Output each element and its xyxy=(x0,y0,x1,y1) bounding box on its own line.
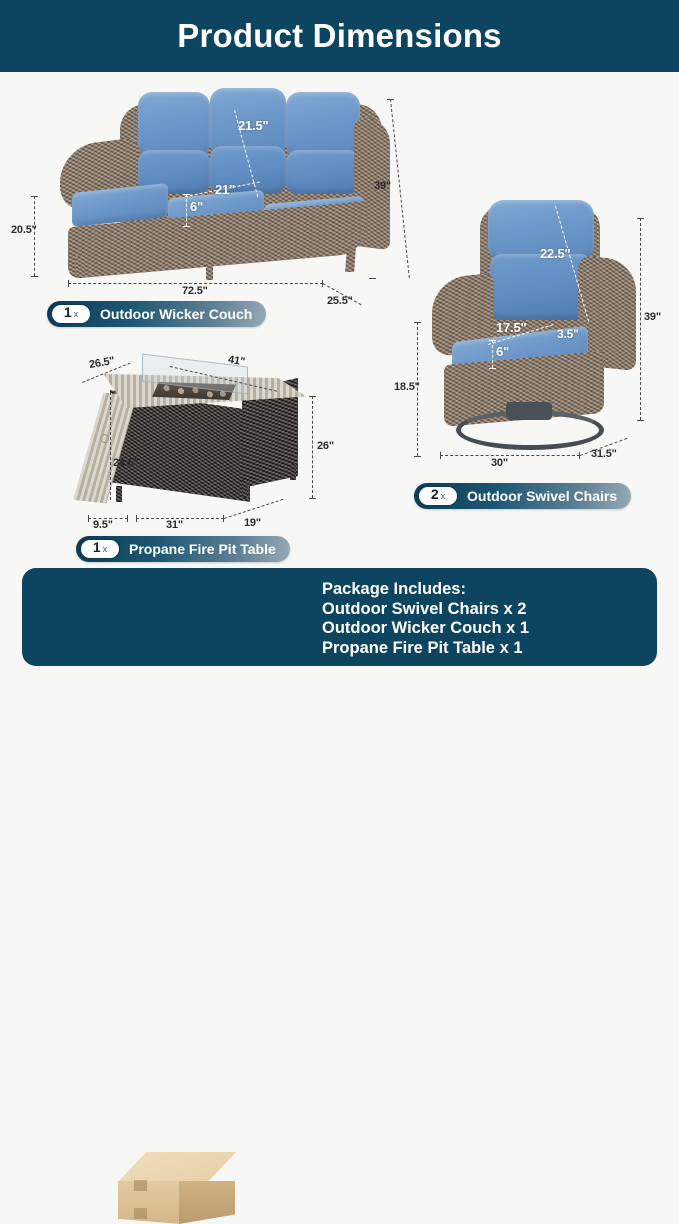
box-tape-upper xyxy=(134,1180,147,1191)
package-text-block: Package Includes: Outdoor Swivel Chairs … xyxy=(322,580,529,658)
table-door-handle-icon xyxy=(100,434,109,443)
tick xyxy=(637,218,644,219)
chair-multiplier: x xyxy=(441,492,446,501)
fire-pit-table-illustration xyxy=(66,358,326,518)
product-dimensions-infographic: Product Dimensions xyxy=(0,0,679,679)
label-pill-swivel-chairs[interactable]: 2 x Outdoor Swivel Chairs xyxy=(414,483,631,509)
tick xyxy=(127,515,128,522)
table-dim-door-width: 9.5" xyxy=(93,519,113,531)
couch-seat-height-line xyxy=(34,196,35,276)
couch-multiplier: x xyxy=(74,310,79,319)
tick xyxy=(414,322,421,323)
tick xyxy=(369,278,376,279)
chair-dim-cushion-thickness: 6" xyxy=(496,344,509,359)
couch-dim-seat-depth: 21" xyxy=(215,182,235,197)
couch-count: 1 xyxy=(64,305,72,319)
table-count: 1 xyxy=(93,540,101,554)
chair-dim-armrest: 3.5" xyxy=(557,327,579,341)
couch-dim-depth: 25.5" xyxy=(327,295,353,307)
couch-label: Outdoor Wicker Couch xyxy=(100,306,252,322)
tick xyxy=(31,276,38,277)
couch-dim-height: 39" xyxy=(374,180,391,192)
chair-dim-seat-depth: 17.5" xyxy=(496,320,526,335)
tick xyxy=(387,99,394,100)
table-multiplier: x xyxy=(103,545,108,554)
tick xyxy=(183,194,190,195)
tick xyxy=(489,368,496,369)
table-dim-base-depth: 19" xyxy=(244,517,261,529)
header-banner: Product Dimensions xyxy=(0,0,679,72)
tick xyxy=(88,515,89,522)
chair-dim-height: 39" xyxy=(644,311,661,323)
box-left-face xyxy=(118,1181,180,1224)
couch-dim-width: 72.5" xyxy=(182,285,208,297)
chair-dim-depth: 31.5" xyxy=(591,448,617,460)
chair-width-line xyxy=(440,455,580,456)
table-dim-height: 26" xyxy=(317,440,334,452)
chair-cushion-thickness-line xyxy=(492,340,493,368)
couch-width-line xyxy=(68,283,323,284)
tick xyxy=(309,396,316,397)
tick xyxy=(183,226,190,227)
couch-dim-cushion-thickness: 6" xyxy=(190,199,203,214)
table-count-badge: 1 x xyxy=(80,539,120,559)
couch-cushion-thickness-line xyxy=(186,194,187,226)
chair-label: Outdoor Swivel Chairs xyxy=(467,488,617,504)
table-height-line xyxy=(312,396,313,498)
table-dim-base-width: 31" xyxy=(166,519,183,531)
cardboard-box-icon xyxy=(110,1152,260,1224)
page-title: Product Dimensions xyxy=(177,17,501,55)
chair-dim-seat-height: 18.5" xyxy=(394,381,420,393)
tick xyxy=(637,420,644,421)
package-heading: Package Includes: xyxy=(322,580,529,600)
tick xyxy=(309,498,316,499)
label-pill-fire-pit-table[interactable]: 1 x Propane Fire Pit Table xyxy=(76,536,290,562)
box-right-face xyxy=(179,1181,235,1224)
box-top-face xyxy=(118,1152,236,1182)
table-dim-top-width: 41" xyxy=(227,354,246,368)
table-label: Propane Fire Pit Table xyxy=(129,541,276,557)
couch-dim-seat-height: 20.5" xyxy=(11,224,37,236)
tick xyxy=(31,196,38,197)
tick xyxy=(414,456,421,457)
tick xyxy=(489,340,496,341)
couch-height-line xyxy=(390,99,410,278)
chair-count-badge: 2 x xyxy=(418,486,458,506)
table-door-height-line xyxy=(110,392,111,500)
chair-dim-width: 30" xyxy=(491,457,508,469)
chair-count: 2 xyxy=(431,487,439,501)
tick xyxy=(68,280,69,287)
package-item-2: Propane Fire Pit Table x 1 xyxy=(322,639,529,659)
couch-dim-back-cushion: 21.5" xyxy=(238,118,268,133)
package-includes-panel: Package Includes: Outdoor Swivel Chairs … xyxy=(22,568,657,666)
box-tape-lower xyxy=(134,1208,147,1219)
package-item-0: Outdoor Swivel Chairs x 2 xyxy=(322,600,529,620)
package-item-1: Outdoor Wicker Couch x 1 xyxy=(322,619,529,639)
label-pill-couch[interactable]: 1 x Outdoor Wicker Couch xyxy=(47,301,266,327)
tick xyxy=(136,515,137,522)
tick xyxy=(440,452,441,459)
couch-count-badge: 1 x xyxy=(51,304,91,324)
chair-dim-back-cushion: 22.5" xyxy=(540,246,570,261)
table-dim-door-height: 24.5" xyxy=(113,457,139,469)
swivel-chair-illustration xyxy=(428,198,640,458)
chair-height-line xyxy=(640,218,641,420)
